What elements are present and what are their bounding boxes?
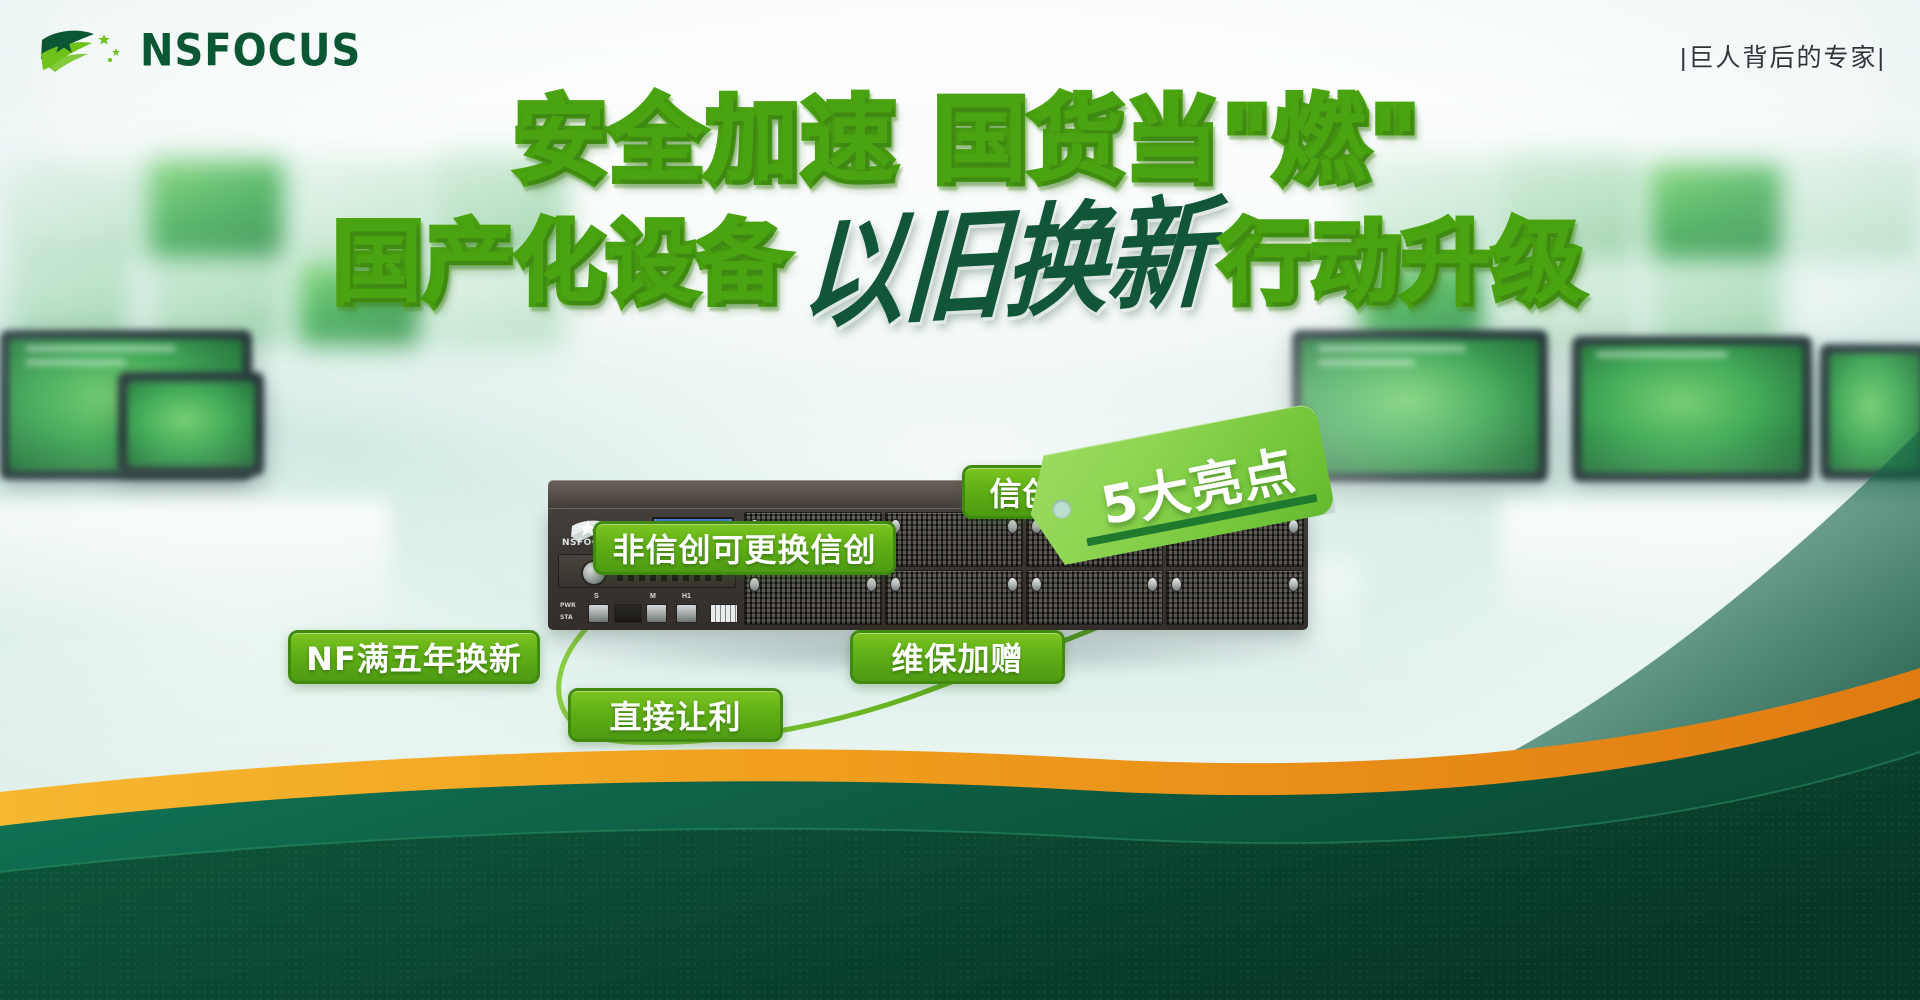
- bottom-wave-decoration: [0, 640, 1920, 1000]
- headline-line-2: 国产化设备 以旧换新 行动升级: [0, 212, 1920, 316]
- server-port-usb: [614, 604, 642, 623]
- server-drive-row: [744, 570, 1304, 625]
- server-drive-bay: [1026, 570, 1164, 625]
- banner-header: NSFOCUS |巨人背后的专家|: [0, 0, 1920, 110]
- server-port-h1: [676, 604, 697, 623]
- headline-line-2-suffix: 行动升级: [1222, 220, 1586, 308]
- server-dip-switch: [710, 604, 738, 623]
- brand-tagline: |巨人背后的专家|: [1680, 38, 1886, 74]
- badge-label: 非信创可更换信创: [612, 525, 876, 571]
- server-led-label-sta: STA: [560, 614, 573, 621]
- server-drive-bay: [885, 570, 1023, 625]
- badge-non-xinchuang-replace[interactable]: 非信创可更换信创: [593, 521, 896, 575]
- server-port-serial: [588, 604, 609, 623]
- banner-stage: NSFOCUS PWR STA S M H1: [0, 0, 1920, 1000]
- server-drive-bay: [744, 570, 882, 625]
- nsfocus-flag-star-icon: [34, 26, 130, 76]
- nsfocus-logo-text: NSFOCUS: [140, 25, 361, 77]
- server-drive-bay: [1166, 570, 1304, 625]
- headline-line-2-prefix: 国产化设备: [334, 220, 789, 308]
- server-port-mgmt: [646, 604, 667, 623]
- server-port-label-m: M: [650, 593, 656, 600]
- headline-brush-calligraphy: 以旧换新: [793, 192, 1219, 335]
- headline-block: 安全加速 国货当"燃" 国产化设备 以旧换新 行动升级: [0, 96, 1920, 316]
- server-port-label-s: S: [594, 593, 599, 600]
- server-port-row: PWR STA S M H1: [558, 592, 738, 626]
- nsfocus-logo[interactable]: NSFOCUS: [34, 26, 361, 76]
- server-led-label-pwr: PWR: [560, 602, 576, 609]
- server-port-label-h1: H1: [682, 593, 691, 600]
- server-drive-bay: [885, 512, 1023, 567]
